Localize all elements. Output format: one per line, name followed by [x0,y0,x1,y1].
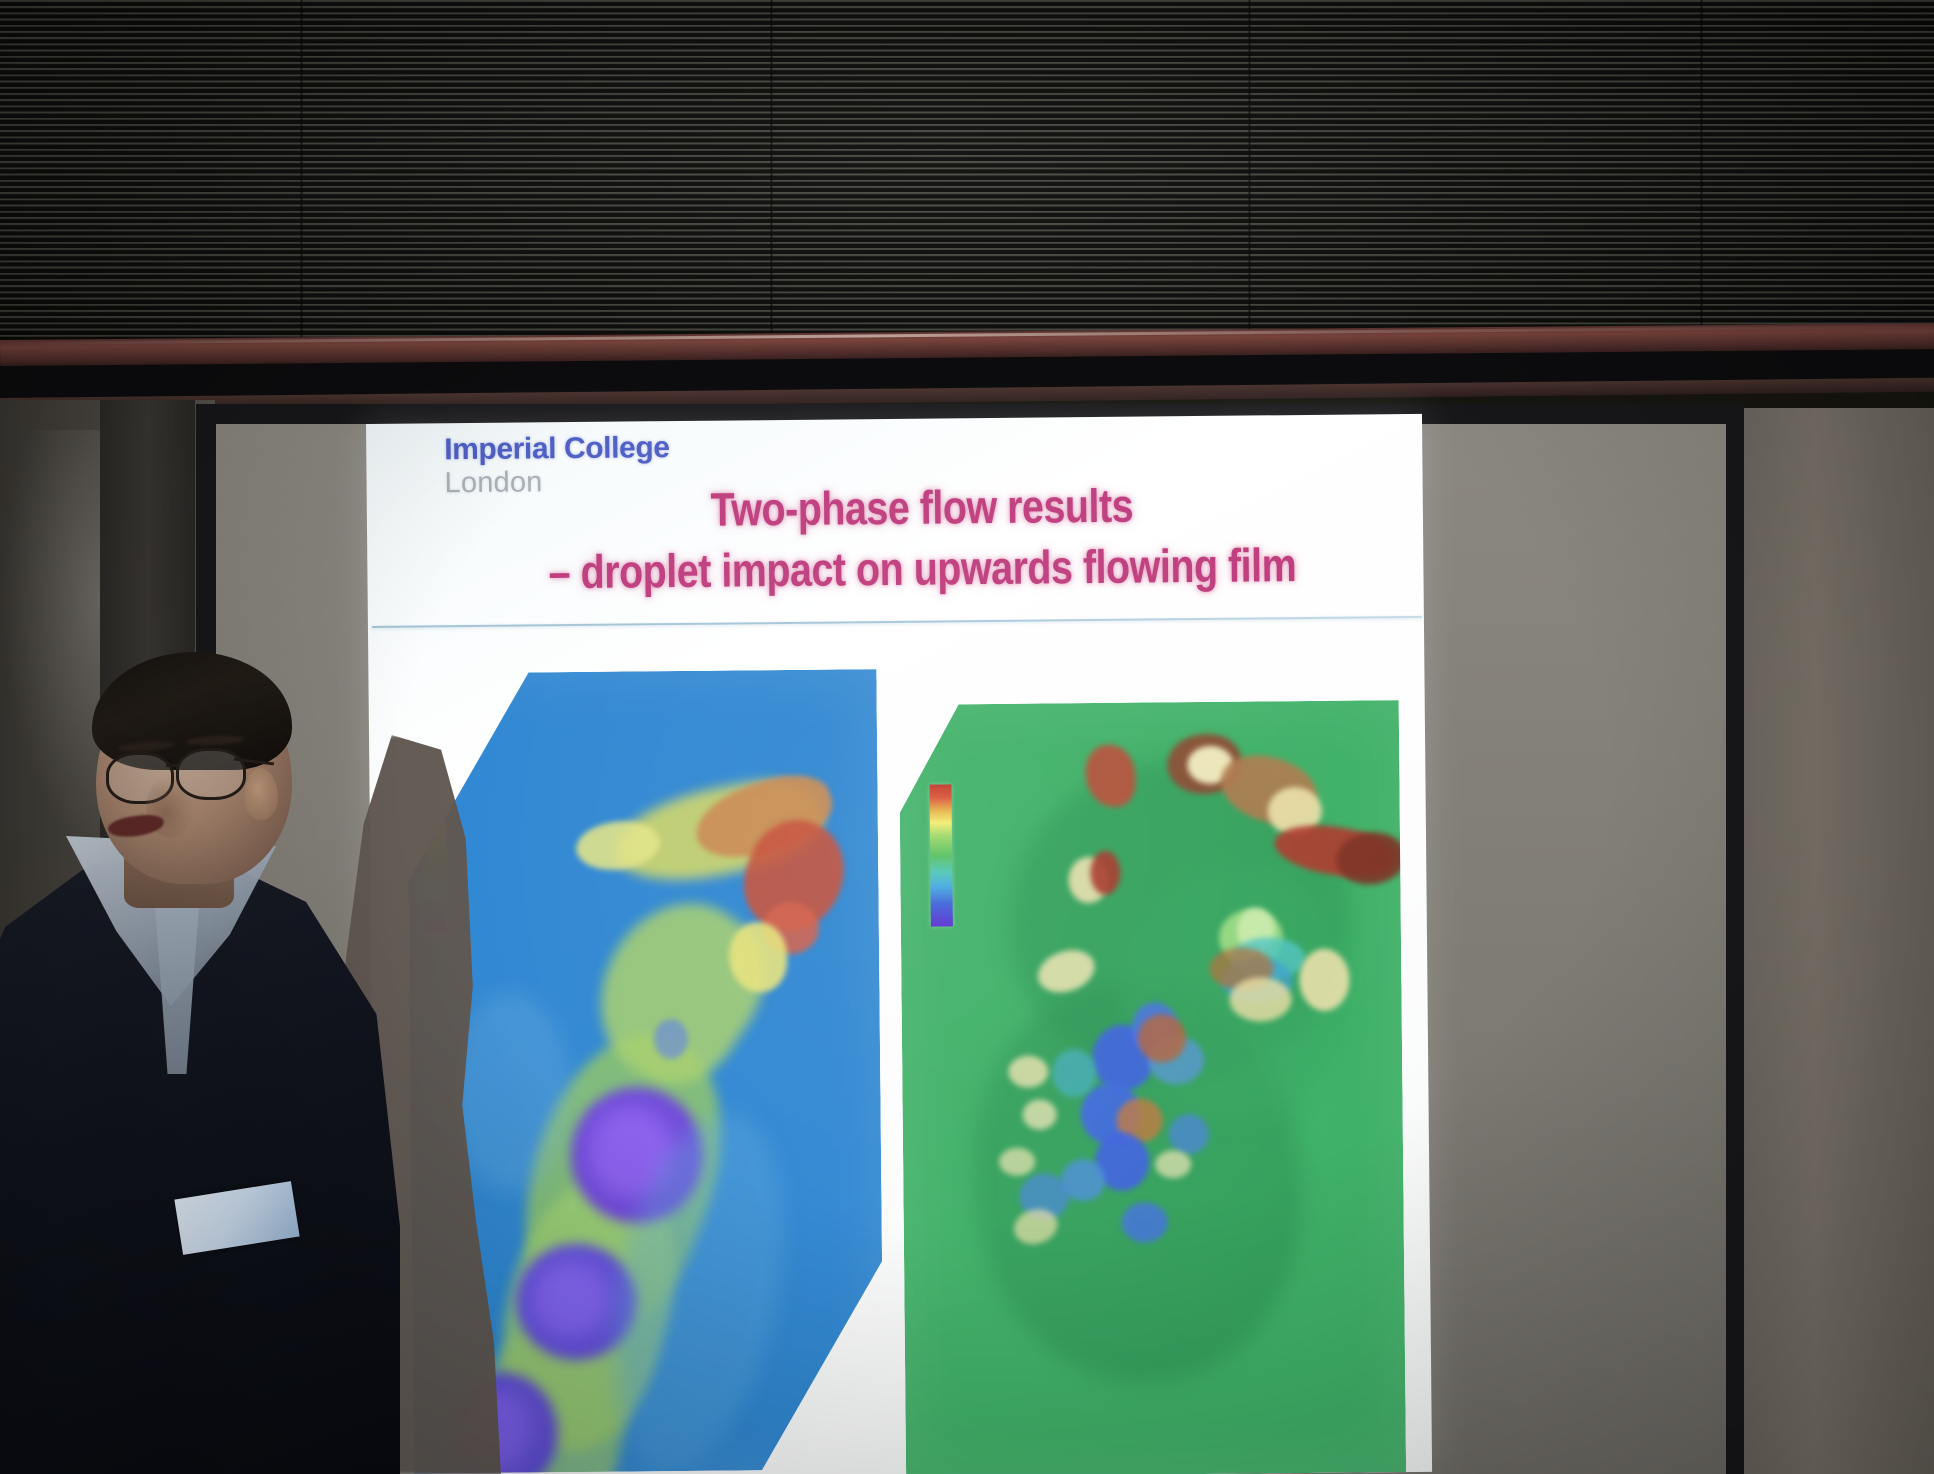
slide-title-line2: – droplet impact on upwards flowing film [506,534,1338,603]
projected-slide: Imperial College London Two-phase flow r… [366,414,1432,1474]
slide-title-line1: Two-phase flow results [710,479,1133,536]
glasses-bridge [166,764,180,767]
slide-divider [372,616,1422,628]
presenter [0,640,420,1474]
right-figure-colorbar [929,784,952,926]
imperial-college-logo: Imperial College [444,433,670,465]
photo-scene: Imperial College London Two-phase flow r… [0,0,1934,1474]
right-figure [899,700,1406,1474]
ceiling-vignette [0,0,1934,352]
slide-title: Two-phase flow results – droplet impact … [506,473,1339,603]
right-wall [1735,408,1934,1474]
